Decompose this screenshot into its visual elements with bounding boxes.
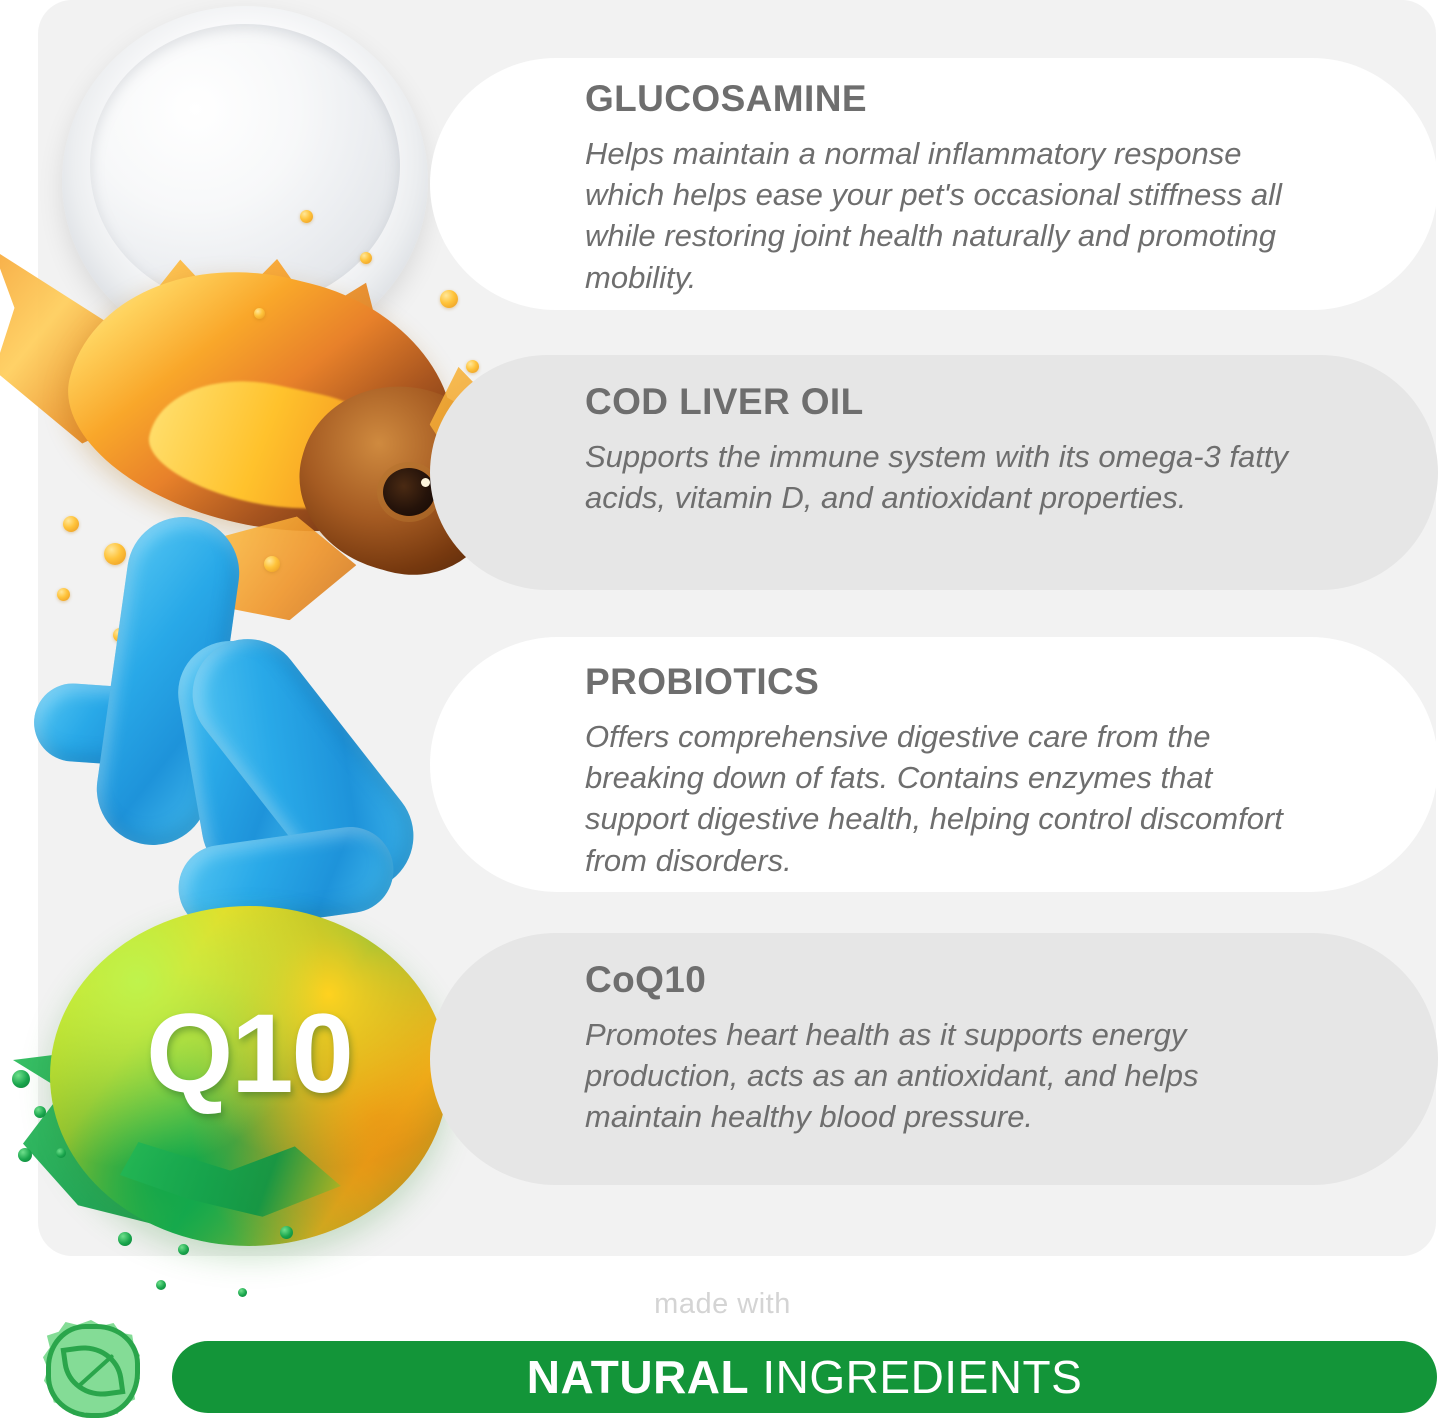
green-droplet — [12, 1070, 30, 1088]
ingredient-title: COD LIVER OIL — [585, 355, 1438, 420]
ingredient-description: Offers comprehensive digestive care from… — [585, 700, 1315, 881]
ingredient-title: PROBIOTICS — [585, 637, 1438, 700]
ingredient-description: Helps maintain a normal inflammatory res… — [585, 117, 1315, 298]
ingredient-title: CoQ10 — [585, 933, 1438, 998]
banner-light-text: INGREDIENTS — [749, 1351, 1082, 1403]
ingredient-description: Supports the immune system with its omeg… — [585, 420, 1315, 518]
ingredient-title: GLUCOSAMINE — [585, 58, 1438, 117]
banner-text: NATURAL INGREDIENTS — [527, 1350, 1083, 1404]
ingredient-card-list: GLUCOSAMINE Helps maintain a normal infl… — [430, 0, 1438, 1256]
ingredient-description: Promotes heart health as it supports ene… — [585, 998, 1315, 1138]
ingredient-card-cod-liver-oil[interactable]: COD LIVER OIL Supports the immune system… — [430, 355, 1438, 590]
ingredient-card-coq10[interactable]: CoQ10 Promotes heart health as it suppor… — [430, 933, 1438, 1185]
ingredient-card-glucosamine[interactable]: GLUCOSAMINE Helps maintain a normal infl… — [430, 58, 1438, 310]
green-droplet — [18, 1148, 32, 1162]
made-with-label: made with — [0, 1288, 1445, 1321]
leaf-badge-icon — [38, 1318, 144, 1422]
ingredient-card-probiotics[interactable]: PROBIOTICS Offers comprehensive digestiv… — [430, 637, 1438, 892]
natural-ingredients-banner: NATURAL INGREDIENTS — [172, 1341, 1437, 1413]
banner-strong-text: NATURAL — [527, 1351, 749, 1403]
